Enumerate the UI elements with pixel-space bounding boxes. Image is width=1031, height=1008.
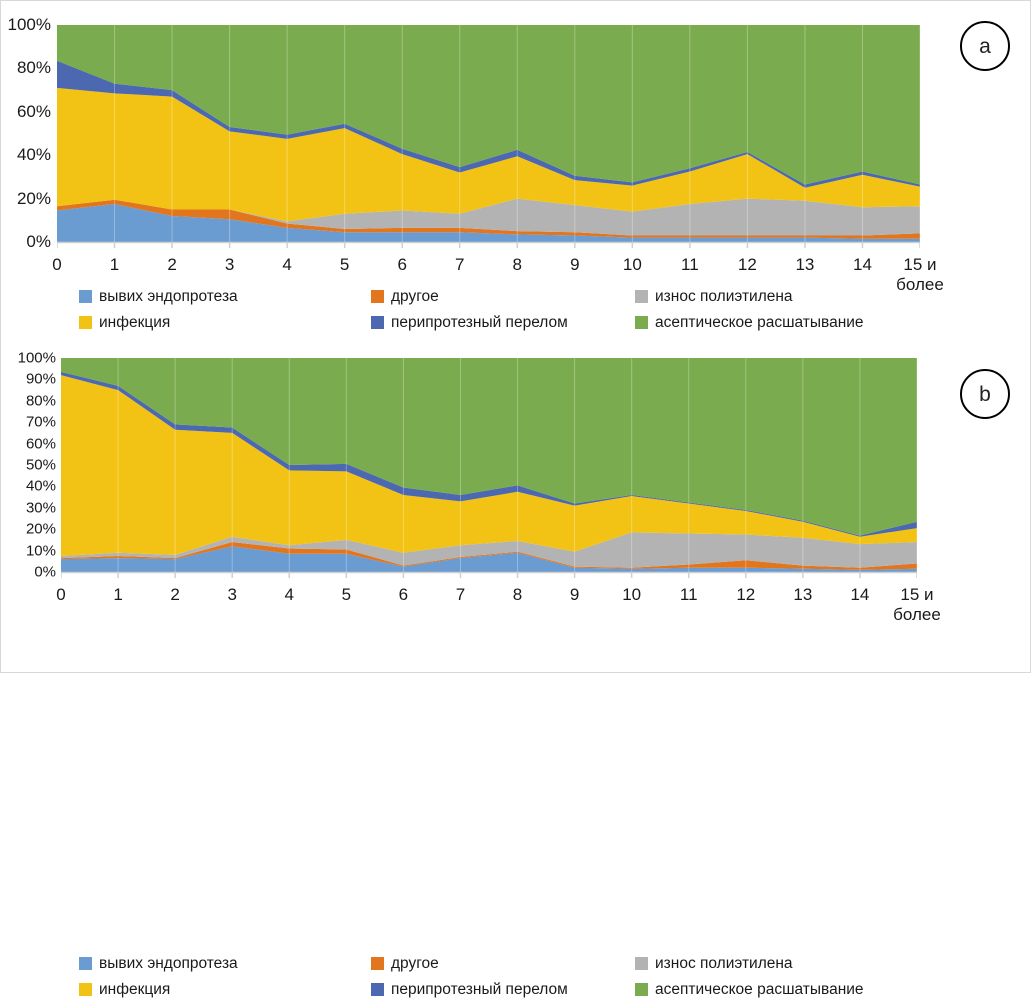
legend-swatch-icon — [635, 957, 648, 970]
y-tick-label: 50% — [26, 457, 56, 474]
x-tick-label: 7 — [456, 585, 465, 605]
plot-area-b — [61, 358, 917, 572]
legend-item-wear[interactable]: износ полиэтилена — [635, 289, 793, 305]
chart-panel-b: b 0%10%20%30%40%50%60%70%80%90%100% 0123… — [1, 341, 1031, 674]
legend-label: вывих эндопротеза — [99, 956, 238, 972]
x-tick-label: 14 — [850, 585, 869, 605]
legend-swatch-icon — [371, 290, 384, 303]
x-axis-a: 0123456789101112131415 иболее — [57, 247, 920, 291]
y-tick-label: 70% — [26, 414, 56, 431]
legend-row: инфекцияперипротезный переломасептическо… — [1, 982, 1031, 1008]
legend-item-loosening[interactable]: асептическое расшатывание — [635, 982, 864, 998]
legend-label: другое — [391, 289, 439, 305]
x-tick-label: 13 — [793, 585, 812, 605]
x-tick-label: 2 — [167, 255, 176, 275]
y-axis-a: 0%20%40%60%80%100% — [1, 25, 51, 242]
y-tick-label: 0% — [34, 564, 56, 581]
x-tick-label: 15 иболее — [893, 585, 941, 624]
x-tick-label: 9 — [570, 255, 579, 275]
y-tick-label: 60% — [26, 435, 56, 452]
y-tick-label: 10% — [26, 542, 56, 559]
legend-label: другое — [391, 956, 439, 972]
x-axis-line — [61, 571, 917, 579]
x-tick-label: 8 — [513, 585, 522, 605]
x-tick-label: 10 — [622, 585, 641, 605]
legend-item-infection[interactable]: инфекция — [79, 982, 170, 998]
legend-row: вывих эндопротезадругоеизнос полиэтилена — [1, 289, 1031, 315]
y-tick-label: 20% — [17, 189, 51, 209]
legend-item-fracture[interactable]: перипротезный перелом — [371, 982, 568, 998]
panel-label-a: a — [960, 21, 1010, 71]
legend-swatch-icon — [79, 316, 92, 329]
legend-label: асептическое расшатывание — [655, 315, 864, 331]
stacked-area-chart-b — [61, 358, 917, 572]
legend-label: износ полиэтилена — [655, 289, 793, 305]
y-tick-label: 60% — [17, 102, 51, 122]
legend-label: вывих эндопротеза — [99, 289, 238, 305]
legend-swatch-icon — [371, 983, 384, 996]
legend-swatch-icon — [635, 290, 648, 303]
x-tick-label: 11 — [680, 585, 698, 605]
x-axis-b: 0123456789101112131415 иболее — [61, 577, 917, 621]
y-tick-label: 80% — [17, 58, 51, 78]
x-tick-label: 12 — [738, 255, 757, 275]
stacked-area-chart-a — [57, 25, 920, 242]
legend-item-dislocation[interactable]: вывих эндопротеза — [79, 289, 238, 305]
y-tick-label: 40% — [26, 478, 56, 495]
y-axis-b: 0%10%20%30%40%50%60%70%80%90%100% — [1, 358, 56, 572]
legend-item-wear[interactable]: износ полиэтилена — [635, 956, 793, 972]
legend-swatch-icon — [635, 316, 648, 329]
y-tick-label: 80% — [26, 392, 56, 409]
legend-label: инфекция — [99, 315, 170, 331]
legend-item-infection[interactable]: инфекция — [79, 315, 170, 331]
legend-swatch-icon — [635, 983, 648, 996]
legend-row: инфекцияперипротезный переломасептическо… — [1, 315, 1031, 341]
legend-b: вывих эндопротезадругоеизнос полиэтилена… — [1, 956, 1031, 1008]
x-tick-label: 6 — [399, 585, 408, 605]
x-tick-label: 9 — [570, 585, 579, 605]
x-tick-label: 5 — [342, 585, 351, 605]
x-tick-label: 7 — [455, 255, 464, 275]
x-tick-label: 14 — [853, 255, 872, 275]
x-tick-label: 3 — [225, 255, 234, 275]
x-tick-label: 1 — [110, 255, 119, 275]
y-tick-label: 0% — [26, 232, 51, 252]
legend-swatch-icon — [371, 957, 384, 970]
plot-area-a — [57, 25, 920, 242]
legend-item-other[interactable]: другое — [371, 289, 439, 305]
x-tick-label: 6 — [397, 255, 406, 275]
x-tick-label: 11 — [681, 255, 699, 275]
x-tick-label: 10 — [623, 255, 642, 275]
x-tick-label: 12 — [736, 585, 755, 605]
y-tick-label: 20% — [26, 521, 56, 538]
chart-panel-a: a 0%20%40%60%80%100% 0123456789101112131… — [1, 1, 1031, 341]
legend-item-dislocation[interactable]: вывих эндопротеза — [79, 956, 238, 972]
legend-swatch-icon — [79, 957, 92, 970]
legend-label: асептическое расшатывание — [655, 982, 864, 998]
legend-label: износ полиэтилена — [655, 956, 793, 972]
x-tick-label: 3 — [227, 585, 236, 605]
legend-label: инфекция — [99, 982, 170, 998]
panel-label-b: b — [960, 369, 1010, 419]
legend-swatch-icon — [79, 983, 92, 996]
legend-row: вывих эндопротезадругоеизнос полиэтилена — [1, 956, 1031, 982]
x-tick-label: 5 — [340, 255, 349, 275]
y-tick-label: 30% — [26, 499, 56, 516]
legend-swatch-icon — [371, 316, 384, 329]
legend-label: перипротезный перелом — [391, 315, 568, 331]
x-tick-label: 4 — [285, 585, 294, 605]
x-tick-label: 4 — [282, 255, 291, 275]
y-tick-label: 100% — [8, 15, 51, 35]
legend-item-fracture[interactable]: перипротезный перелом — [371, 315, 568, 331]
y-tick-label: 90% — [26, 371, 56, 388]
x-tick-label: 0 — [52, 255, 61, 275]
x-tick-label: 0 — [56, 585, 65, 605]
figure-container: a 0%20%40%60%80%100% 0123456789101112131… — [0, 0, 1031, 673]
legend-swatch-icon — [79, 290, 92, 303]
x-axis-line — [57, 241, 920, 249]
x-tick-label: 1 — [113, 585, 122, 605]
legend-a: вывих эндопротезадругоеизнос полиэтилена… — [1, 289, 1031, 341]
x-tick-label: 13 — [795, 255, 814, 275]
y-tick-label: 40% — [17, 145, 51, 165]
legend-item-other[interactable]: другое — [371, 956, 439, 972]
x-tick-label: 8 — [513, 255, 522, 275]
x-tick-label: 2 — [170, 585, 179, 605]
legend-item-loosening[interactable]: асептическое расшатывание — [635, 315, 864, 331]
y-tick-label: 100% — [18, 350, 56, 367]
legend-label: перипротезный перелом — [391, 982, 568, 998]
